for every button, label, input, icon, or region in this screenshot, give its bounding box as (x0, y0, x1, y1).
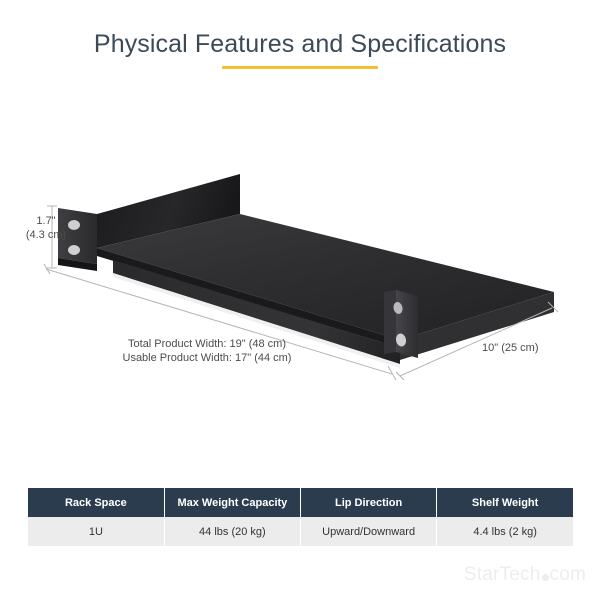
usable-width-value: Usable Product Width: 17" (44 cm) (62, 351, 352, 365)
watermark-tld: com (550, 564, 587, 586)
page-title: Physical Features and Specifications (0, 28, 600, 60)
table-header-rack-space: Rack Space (28, 488, 164, 517)
cell-shelf-weight: 4.4 lbs (2 kg) (437, 517, 573, 546)
right-bracket-plate (396, 290, 418, 358)
cell-rack-space: 1U (28, 517, 164, 546)
right-bracket-side (384, 290, 396, 354)
height-dimension-label: 1.7" (4.3 cm) (14, 214, 78, 242)
brand-watermark: StarTech com (464, 564, 586, 586)
page-header: Physical Features and Specifications (0, 28, 600, 69)
table-header-row: Rack Space Max Weight Capacity Lip Direc… (28, 488, 573, 517)
height-imperial-value: 1.7" (14, 214, 78, 228)
title-accent-underline (222, 66, 378, 69)
table-header-lip-direction: Lip Direction (301, 488, 437, 517)
specifications-table: Rack Space Max Weight Capacity Lip Direc… (28, 488, 573, 546)
cell-lip-direction: Upward/Downward (301, 517, 437, 546)
width-dimension-label: Total Product Width: 19" (48 cm) Usable … (62, 337, 352, 365)
height-metric-value: (4.3 cm) (14, 228, 78, 242)
total-width-value: Total Product Width: 19" (48 cm) (62, 337, 352, 351)
right-mounting-bracket (384, 290, 418, 358)
watermark-brand-name: StarTech (464, 564, 541, 586)
table-row: 1U 44 lbs (20 kg) Upward/Downward 4.4 lb… (28, 517, 573, 546)
dot-icon (542, 574, 549, 581)
page-root: Physical Features and Specifications (0, 0, 600, 600)
table-header-shelf-weight: Shelf Weight (437, 488, 573, 517)
depth-dimension-label: 10" (25 cm) (482, 341, 538, 355)
cell-max-weight: 44 lbs (20 kg) (164, 517, 300, 546)
table-header-max-weight: Max Weight Capacity (164, 488, 300, 517)
left-bracket-mount-hole-bottom (68, 245, 80, 255)
